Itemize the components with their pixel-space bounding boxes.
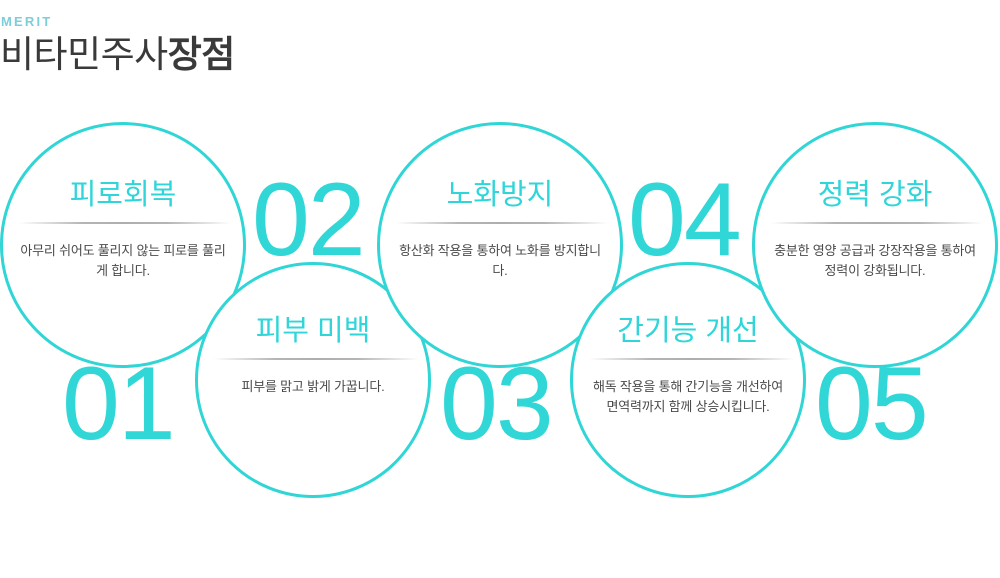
benefit-card-05-content: 정력 강화 충분한 영양 공급과 강장작용을 통하여 정력이 강화됩니다. [755,177,995,281]
benefit-card-05-divider [771,222,983,224]
benefit-card-03-body: 항산화 작용을 통하여 노화를 방지합니다. [396,241,604,281]
benefit-card-02-content: 피부 미백 피부를 맑고 밝게 가꿉니다. [198,313,428,397]
benefit-card-04-title: 간기능 개선 [589,313,787,349]
benefit-card-05[interactable]: 정력 강화 충분한 영양 공급과 강장작용을 통하여 정력이 강화됩니다. [752,122,998,368]
benefit-card-05-title: 정력 강화 [771,177,979,213]
benefit-card-02-title: 피부 미백 [214,313,412,349]
benefit-card-04-divider [589,358,794,360]
benefit-card-01-content: 피로회복 아무리 쉬어도 풀리지 않는 피로를 풀리게 합니다. [3,177,243,281]
benefit-card-01-title: 피로회복 [19,177,227,213]
step-number-04: 04 [628,168,740,272]
benefits-circle-diagram: 01 02 03 04 05 피로회복 아무리 쉬어도 풀리지 않는 피로를 풀… [0,0,1000,578]
benefit-card-01-divider [19,222,231,224]
benefit-card-03-title: 노화방지 [396,177,604,213]
benefit-card-04-body: 해독 작용을 통해 간기능을 개선하여 면역력까지 함께 상승시킵니다. [589,377,787,417]
benefit-card-03-divider [396,222,608,224]
step-number-02: 02 [252,168,364,272]
benefit-card-02-body: 피부를 맑고 밝게 가꿉니다. [214,377,412,397]
benefit-card-02-divider [214,358,419,360]
benefit-card-04-content: 간기능 개선 해독 작용을 통해 간기능을 개선하여 면역력까지 함께 상승시킵… [573,313,803,417]
benefit-card-05-body: 충분한 영양 공급과 강장작용을 통하여 정력이 강화됩니다. [771,241,979,281]
benefit-card-01-body: 아무리 쉬어도 풀리지 않는 피로를 풀리게 합니다. [19,241,227,281]
benefit-card-03-content: 노화방지 항산화 작용을 통하여 노화를 방지합니다. [380,177,620,281]
